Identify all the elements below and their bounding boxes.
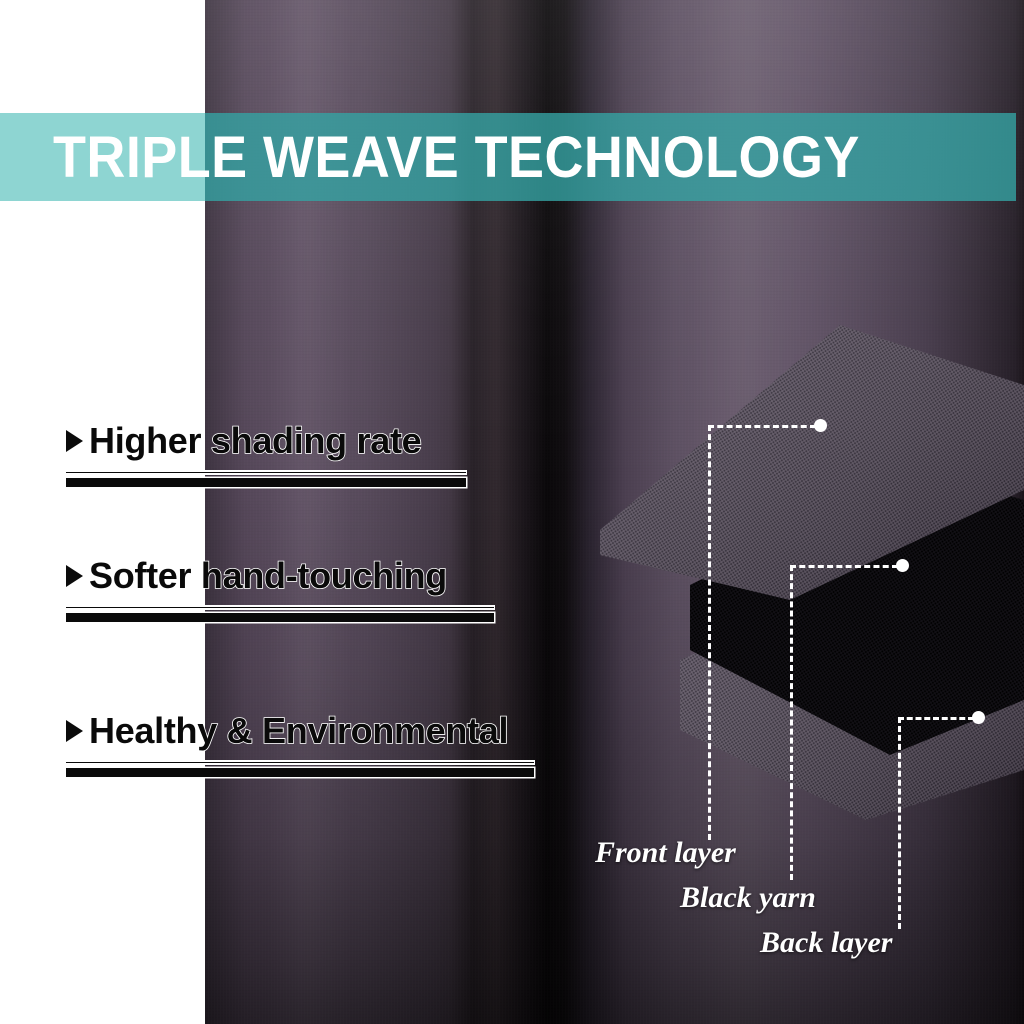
- triangle-bullet-icon: [66, 565, 83, 587]
- feature-row: Higher shading rate: [66, 420, 466, 462]
- underline-thick-rule: [66, 768, 534, 777]
- feature-underline: [66, 761, 534, 777]
- layer-label-black-yarn: Black yarn: [680, 881, 816, 915]
- triple-weave-layer-diagram: [590, 300, 1024, 820]
- feature-item-3: Healthy & Environmental: [66, 710, 534, 777]
- layer-label-back: Back layer: [760, 926, 892, 960]
- callout-line-yarn-vertical: [790, 565, 793, 880]
- underline-thin-rule: [66, 471, 466, 474]
- triangle-bullet-icon: [66, 430, 83, 452]
- callout-line-yarn-horizontal: [790, 565, 898, 568]
- feature-item-1: Higher shading rate: [66, 420, 466, 487]
- callout-line-front-vertical: [708, 425, 711, 840]
- feature-label: Higher shading rate: [89, 420, 421, 462]
- callout-line-front-horizontal: [708, 425, 816, 428]
- page-title: TRIPLE WEAVE TECHNOLOGY: [0, 113, 945, 201]
- feature-label: Healthy & Environmental: [89, 710, 508, 752]
- callout-line-back-vertical: [898, 717, 901, 929]
- feature-underline: [66, 471, 466, 487]
- feature-label: Softer hand-touching: [89, 555, 447, 597]
- underline-thin-rule: [66, 606, 494, 609]
- feature-item-2: Softer hand-touching: [66, 555, 494, 622]
- product-infographic: TRIPLE WEAVE TECHNOLOGY Higher shading r…: [0, 0, 1024, 1024]
- feature-row: Healthy & Environmental: [66, 710, 534, 752]
- underline-thick-rule: [66, 478, 466, 487]
- callout-line-back-horizontal: [898, 717, 974, 720]
- layer-label-front: Front layer: [595, 836, 736, 870]
- triangle-bullet-icon: [66, 720, 83, 742]
- underline-thick-rule: [66, 613, 494, 622]
- underline-thin-rule: [66, 761, 534, 764]
- feature-underline: [66, 606, 494, 622]
- feature-row: Softer hand-touching: [66, 555, 494, 597]
